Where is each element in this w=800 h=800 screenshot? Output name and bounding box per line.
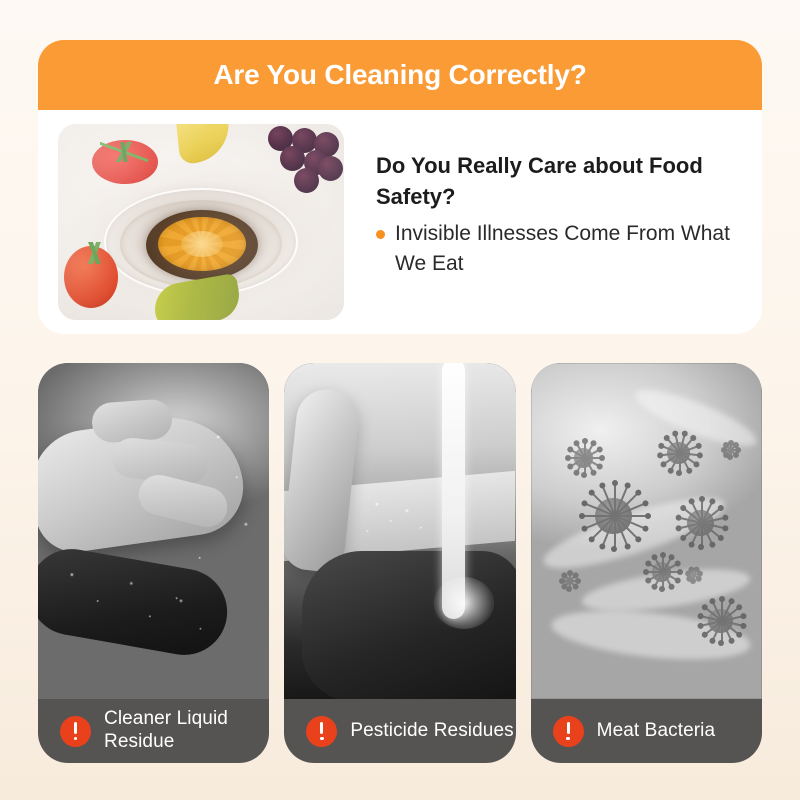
panel-label-text: Meat Bacteria: [597, 720, 716, 743]
panel-photo-running-water: [284, 363, 515, 699]
issue-panel-pesticide-residues: Pesticide Residues: [284, 363, 515, 763]
info-card: Do You Really Care about Food Safety? In…: [38, 110, 762, 334]
tomato-graphic: [64, 246, 118, 308]
bacteria-particle-icon: [567, 441, 601, 475]
page-title: Are You Cleaning Correctly?: [213, 59, 586, 91]
bacteria-particle-icon: [723, 443, 737, 457]
alert-exclamation-icon: [553, 716, 584, 747]
info-heading: Do You Really Care about Food Safety?: [376, 150, 736, 212]
bacteria-particle-icon: [581, 483, 647, 549]
hero-photo-sink-with-produce: [58, 124, 344, 320]
bacteria-particle-icon: [645, 555, 679, 589]
water-droplets-overlay: [38, 363, 269, 699]
bacteria-particle-icon: [699, 599, 743, 643]
panel-photo-hand-washing: [38, 363, 269, 699]
running-water-scene: [284, 363, 515, 699]
issue-panel-cleaner-liquid-residue: Cleaner Liquid Residue: [38, 363, 269, 763]
lemon-slice-graphic: [158, 217, 246, 271]
bacteria-particle-icon: [677, 499, 725, 547]
bacteria-particle-icon: [659, 433, 699, 473]
panel-label-bar: Cleaner Liquid Residue: [38, 699, 269, 763]
panel-photo-meat-bacteria: [531, 363, 762, 699]
bullet-dot-icon: [376, 230, 385, 239]
bacteria-particle-icon: [561, 573, 577, 589]
bacteria-particle-layer: [531, 363, 762, 699]
panel-label-bar: Meat Bacteria: [531, 699, 762, 763]
grapes-graphic: [250, 126, 342, 188]
panel-label-text: Pesticide Residues: [350, 720, 513, 743]
infographic-page: Are You Cleaning Correctly? Do You Reall…: [0, 0, 800, 800]
strawberry-graphic: [92, 140, 158, 184]
issue-panel-meat-bacteria: Meat Bacteria: [531, 363, 762, 763]
alert-exclamation-icon: [306, 716, 337, 747]
info-bullet-row: Invisible Illnesses Come From What We Ea…: [376, 219, 746, 279]
water-beads-overlay: [284, 363, 515, 699]
issue-panels: Cleaner Liquid Residue Pesticide Residue…: [38, 363, 762, 763]
panel-label-bar: Pesticide Residues: [284, 699, 515, 763]
bacteria-particle-icon: [687, 569, 699, 581]
info-text-block: Do You Really Care about Food Safety? In…: [344, 124, 746, 279]
panel-label-text: Cleaner Liquid Residue: [104, 708, 269, 754]
info-bullet-text: Invisible Illnesses Come From What We Ea…: [395, 219, 735, 279]
header-banner: Are You Cleaning Correctly?: [38, 40, 762, 110]
alert-exclamation-icon: [60, 716, 91, 747]
hand-washing-scene: [38, 363, 269, 699]
